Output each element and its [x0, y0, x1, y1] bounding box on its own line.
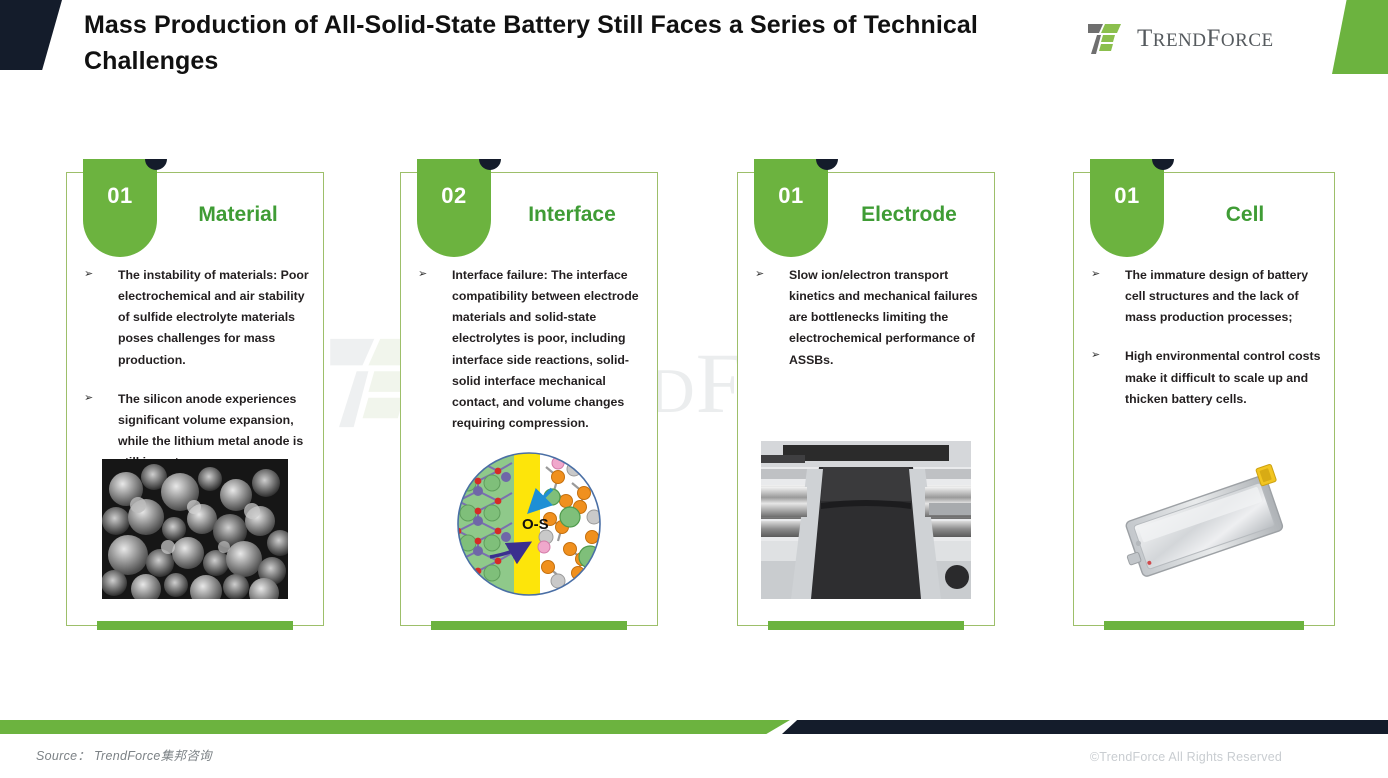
card-bottom-accent	[1104, 621, 1304, 630]
card-figure-electrode	[738, 441, 994, 599]
footer-divider	[0, 720, 1388, 734]
card-title-electrode: Electrode	[834, 203, 984, 227]
brand-letters-rend: REND	[1153, 30, 1207, 51]
card-bottom-accent	[768, 621, 964, 630]
source-label: Source： TrendForce集邦咨询	[36, 745, 212, 764]
list-item: ➢ The instability of materials: Poor ele…	[81, 265, 313, 371]
card-number-interface: 02	[417, 159, 491, 257]
interface-schematic-circle-image: O-S	[454, 449, 604, 599]
electrode-coating-machine-photo-image	[761, 441, 971, 599]
challenge-card-material[interactable]: 01 Material ➢ The instability of materia…	[66, 172, 324, 626]
trendforce-wordmark: TRENDFORCE	[1137, 25, 1274, 53]
footer-bar-green	[0, 720, 790, 734]
card-number-material: 01	[83, 159, 157, 257]
brand-letters-orce: ORCE	[1221, 30, 1274, 51]
sem-micrograph-particles-image	[102, 459, 288, 599]
bullet-text: The immature design of battery cell stru…	[1125, 265, 1324, 328]
card-number-cell: 01	[1090, 159, 1164, 257]
bullet-arrow-icon: ➢	[1088, 346, 1125, 409]
bullet-arrow-icon: ➢	[752, 265, 789, 371]
challenge-card-cell[interactable]: 01 Cell ➢ The immature design of battery…	[1073, 172, 1335, 626]
battery-cell-photo-image	[1114, 459, 1294, 599]
card-number-electrode: 01	[754, 159, 828, 257]
list-item: ➢ Slow ion/electron transport kinetics a…	[752, 265, 984, 371]
bullet-text: Slow ion/electron transport kinetics and…	[789, 265, 984, 371]
challenge-card-interface[interactable]: 02 Interface ➢ Interface failure: The in…	[400, 172, 658, 626]
card-title-cell: Cell	[1170, 203, 1320, 227]
card-bottom-accent	[431, 621, 627, 630]
card-badge-cell: 01	[1090, 159, 1164, 259]
footer-bar-navy	[782, 720, 1388, 734]
brand-letter-f: F	[1207, 25, 1221, 52]
trendforce-logo-mark	[1088, 22, 1128, 56]
brand-letter-t: T	[1137, 25, 1153, 52]
card-bullets-electrode: ➢ Slow ion/electron transport kinetics a…	[752, 265, 984, 389]
card-figure-material	[67, 459, 323, 599]
bullet-text: Interface failure: The interface compati…	[452, 265, 647, 434]
challenge-card-electrode[interactable]: 01 Electrode ➢ Slow ion/electron transpo…	[737, 172, 995, 626]
copyright-label: ©TrendForce All Rights Reserved	[1090, 750, 1282, 764]
slide-header: Mass Production of All-Solid-State Batte…	[0, 0, 1388, 100]
page-title: Mass Production of All-Solid-State Batte…	[84, 8, 1044, 79]
figure-label-os: O-S	[522, 516, 549, 533]
card-figure-interface: O-S	[401, 449, 657, 599]
card-figure-cell	[1074, 459, 1334, 599]
trendforce-logo: TRENDFORCE	[1088, 22, 1274, 56]
card-badge-interface: 02	[417, 159, 491, 259]
card-bullets-cell: ➢ The immature design of battery cell st…	[1088, 265, 1324, 428]
bullet-arrow-icon: ➢	[415, 265, 452, 434]
card-bottom-accent	[97, 621, 293, 630]
card-title-interface: Interface	[497, 203, 647, 227]
card-title-material: Material	[163, 203, 313, 227]
card-bullets-material: ➢ The instability of materials: Poor ele…	[81, 265, 313, 491]
list-item: ➢ The immature design of battery cell st…	[1088, 265, 1324, 328]
card-bullets-interface: ➢ Interface failure: The interface compa…	[415, 265, 647, 452]
card-badge-electrode: 01	[754, 159, 828, 259]
list-item: ➢ Interface failure: The interface compa…	[415, 265, 647, 434]
list-item: ➢ High environmental control costs make …	[1088, 346, 1324, 409]
bullet-arrow-icon: ➢	[1088, 265, 1125, 328]
bullet-text: High environmental control costs make it…	[1125, 346, 1324, 409]
card-badge-material: 01	[83, 159, 157, 259]
bullet-arrow-icon: ➢	[81, 265, 118, 371]
bullet-text: The instability of materials: Poor elect…	[118, 265, 313, 371]
